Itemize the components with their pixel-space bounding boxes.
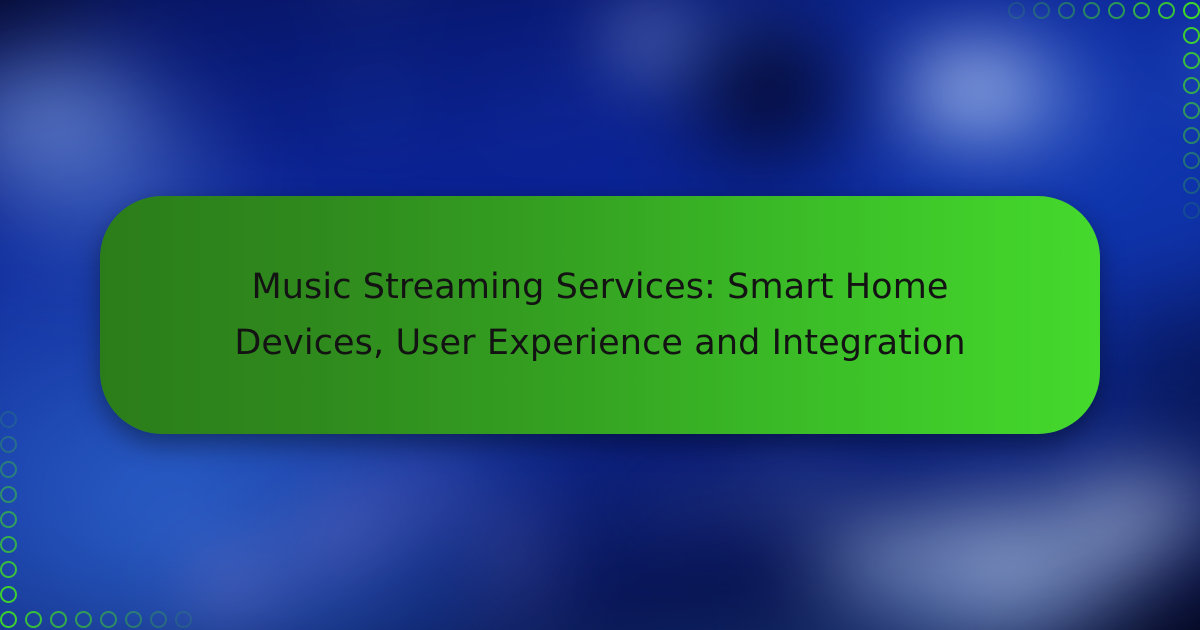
decorative-circle [1183,177,1200,194]
decorative-circle [0,511,17,528]
decorative-circle [100,611,117,628]
decorative-circle [0,411,17,428]
decorative-circle [1183,77,1200,94]
decorative-circle [1183,127,1200,144]
decorative-circle [1183,2,1200,19]
decorative-circle [1033,2,1050,19]
page-title: Music Streaming Services: Smart Home Dev… [170,259,1030,371]
title-line-1: Music Streaming Services: Smart Home [170,259,1030,315]
title-line-2: Devices, User Experience and Integration [170,315,1030,371]
decorative-circle [1083,2,1100,19]
decorative-circle [1008,2,1025,19]
decorative-circle [1158,2,1175,19]
share-card-canvas: Music Streaming Services: Smart Home Dev… [0,0,1200,630]
decorative-circle [1133,2,1150,19]
decorative-circle [0,536,17,553]
decorative-circle [1183,27,1200,44]
decorative-circle [1183,152,1200,169]
decorative-circle [125,611,142,628]
decorative-circle [1058,2,1075,19]
decorative-circle [0,586,17,603]
decorative-circle [0,611,17,628]
title-card: Music Streaming Services: Smart Home Dev… [100,196,1100,434]
decorative-circle [75,611,92,628]
decorative-circle [50,611,67,628]
decorative-circle [1183,202,1200,219]
decorative-circle [175,611,192,628]
decorative-circle [1183,52,1200,69]
decorative-circle [1183,102,1200,119]
decorative-circle [0,436,17,453]
decorative-circle [150,611,167,628]
decorative-circle [25,611,42,628]
decorative-circle [0,561,17,578]
decorative-circle [0,461,17,478]
decorative-circle [0,486,17,503]
decorative-circle [1108,2,1125,19]
